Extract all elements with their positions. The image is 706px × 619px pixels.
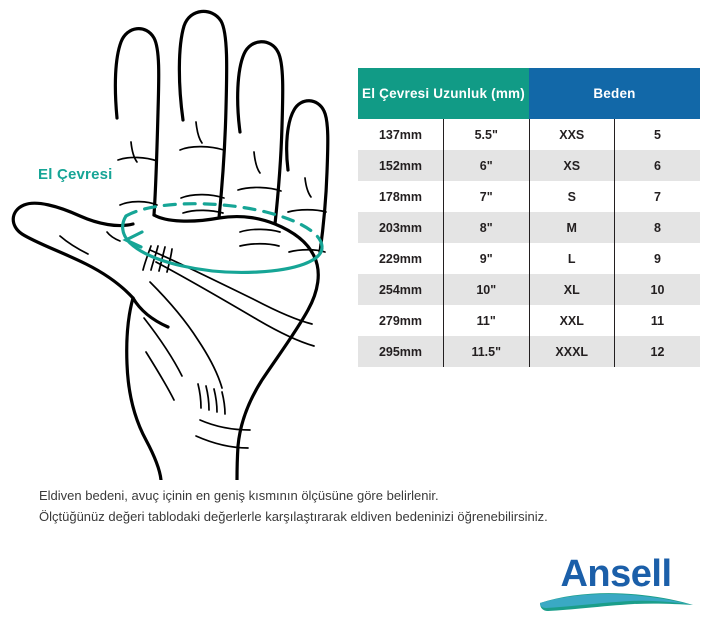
ansell-logo: Ansell — [536, 552, 696, 612]
cell-code: XS — [529, 150, 615, 181]
table-row: 137mm 5.5" XXS 5 — [358, 119, 700, 150]
cell-number: 11 — [615, 305, 701, 336]
cell-mm: 279mm — [358, 305, 444, 336]
cell-mm: 295mm — [358, 336, 444, 367]
cell-inch: 10" — [444, 274, 530, 305]
cell-number: 8 — [615, 212, 701, 243]
cell-code: XXS — [529, 119, 615, 150]
cell-number: 10 — [615, 274, 701, 305]
glove-size-table: El Çevresi Uzunluk (mm) Beden 137mm 5.5"… — [358, 68, 700, 367]
cell-mm: 137mm — [358, 119, 444, 150]
cell-inch: 7" — [444, 181, 530, 212]
cell-inch: 11.5" — [444, 336, 530, 367]
table-row: 203mm 8" M 8 — [358, 212, 700, 243]
cell-inch: 6" — [444, 150, 530, 181]
cell-mm: 152mm — [358, 150, 444, 181]
cell-mm: 203mm — [358, 212, 444, 243]
table-row: 279mm 11" XXL 11 — [358, 305, 700, 336]
cell-mm: 229mm — [358, 243, 444, 274]
cell-code: XXXL — [529, 336, 615, 367]
cell-number: 12 — [615, 336, 701, 367]
instruction-caption: Eldiven bedeni, avuç içinin en geniş kıs… — [39, 485, 679, 527]
cell-inch: 9" — [444, 243, 530, 274]
caption-line-1: Eldiven bedeni, avuç içinin en geniş kıs… — [39, 485, 679, 506]
cell-mm: 178mm — [358, 181, 444, 212]
cell-inch: 5.5" — [444, 119, 530, 150]
header-circumference: El Çevresi Uzunluk (mm) — [358, 68, 529, 119]
cell-code: S — [529, 181, 615, 212]
cell-code: XL — [529, 274, 615, 305]
cell-inch: 11" — [444, 305, 530, 336]
table-row: 295mm 11.5" XXXL 12 — [358, 336, 700, 367]
ansell-swoosh-icon — [536, 590, 696, 612]
table-row: 254mm 10" XL 10 — [358, 274, 700, 305]
cell-code: L — [529, 243, 615, 274]
table-row: 152mm 6" XS 6 — [358, 150, 700, 181]
table-row: 178mm 7" S 7 — [358, 181, 700, 212]
table-header-row: El Çevresi Uzunluk (mm) Beden — [358, 68, 700, 119]
hand-circumference-label: El Çevresi — [38, 166, 113, 183]
caption-line-2: Ölçtüğünüz değeri tablodaki değerlerle k… — [39, 506, 679, 527]
table-body: 137mm 5.5" XXS 5 152mm 6" XS 6 178mm 7" … — [358, 119, 700, 367]
cell-code: XXL — [529, 305, 615, 336]
cell-code: M — [529, 212, 615, 243]
cell-number: 6 — [615, 150, 701, 181]
cell-number: 9 — [615, 243, 701, 274]
table-head: El Çevresi Uzunluk (mm) Beden — [358, 68, 700, 119]
hand-outline-svg — [0, 0, 350, 480]
hand-diagram: El Çevresi — [0, 0, 350, 480]
table-row: 229mm 9" L 9 — [358, 243, 700, 274]
cell-mm: 254mm — [358, 274, 444, 305]
header-size: Beden — [529, 68, 700, 119]
cell-number: 7 — [615, 181, 701, 212]
cell-number: 5 — [615, 119, 701, 150]
cell-inch: 8" — [444, 212, 530, 243]
